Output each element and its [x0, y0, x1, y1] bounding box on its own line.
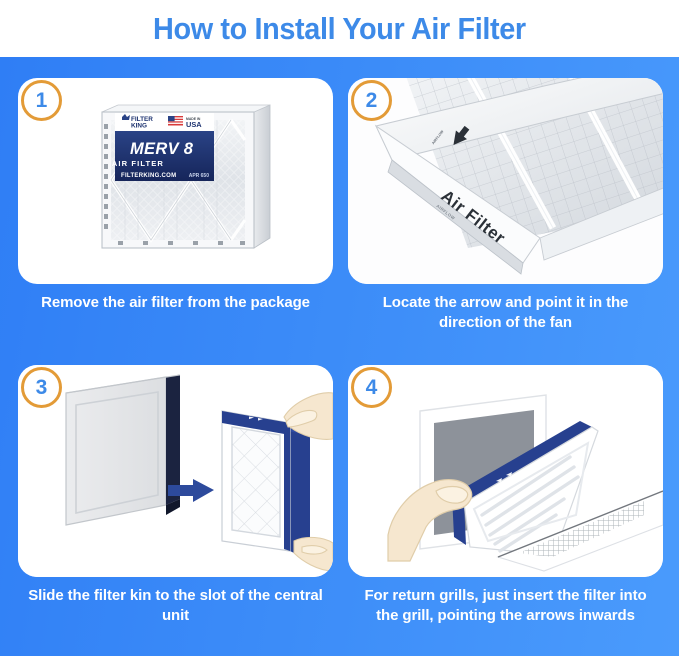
step-2: AIRFLOW Air Filter AIRFLOW 2 Locate the …	[348, 78, 663, 359]
step-caption-3: Slide the filter kin to the slot of the …	[18, 577, 333, 626]
svg-text:USA: USA	[186, 120, 202, 129]
svg-text:FILTERKING.COM: FILTERKING.COM	[121, 173, 176, 179]
air-filter-panel	[222, 411, 310, 561]
slide-filter-into-slot-illustration	[18, 365, 333, 577]
filter-corner-arrow-photo: AIRFLOW Air Filter AIRFLOW	[348, 78, 663, 284]
step-1-card: FILTER KING	[18, 78, 333, 284]
air-filter-product-photo: FILTER KING	[18, 78, 333, 284]
step-number-2: 2	[366, 90, 378, 111]
central-unit-slot	[66, 375, 180, 525]
step-2-card: AIRFLOW Air Filter AIRFLOW 2	[348, 78, 663, 284]
svg-text:AIR FILTER: AIR FILTER	[112, 159, 164, 168]
step-number-badge-3: 3	[21, 367, 62, 408]
step-caption-1: Remove the air filter from the package	[18, 284, 333, 313]
steps-grid: FILTER KING	[0, 57, 679, 656]
title-bar: How to Install Your Air Filter	[0, 0, 679, 57]
step-number-4: 4	[366, 377, 378, 398]
step-4: 4 For return grills, just insert the fil…	[348, 365, 663, 646]
infographic-poster: How to Install Your Air Filter	[0, 0, 679, 656]
svg-text:APR 650: APR 650	[189, 173, 210, 179]
svg-text:MERV 8: MERV 8	[130, 140, 194, 158]
step-3: 3 Slide the filter kin to the slot of th…	[18, 365, 333, 646]
step-3-card: 3	[18, 365, 333, 577]
step-4-card: 4	[348, 365, 663, 577]
step-1: FILTER KING	[18, 78, 333, 359]
page-title: How to Install Your Air Filter	[153, 13, 526, 44]
step-number-badge-1: 1	[21, 80, 62, 121]
return-grill-insert-illustration	[348, 365, 663, 577]
step-number-3: 3	[36, 377, 48, 398]
steps-background: FILTER KING	[0, 57, 679, 656]
step-caption-4: For return grills, just insert the filte…	[348, 577, 663, 626]
step-number-1: 1	[36, 90, 48, 111]
step-number-badge-2: 2	[351, 80, 392, 121]
svg-text:KING: KING	[131, 123, 147, 130]
step-number-badge-4: 4	[351, 367, 392, 408]
step-caption-2: Locate the arrow and point it in the dir…	[348, 284, 663, 333]
